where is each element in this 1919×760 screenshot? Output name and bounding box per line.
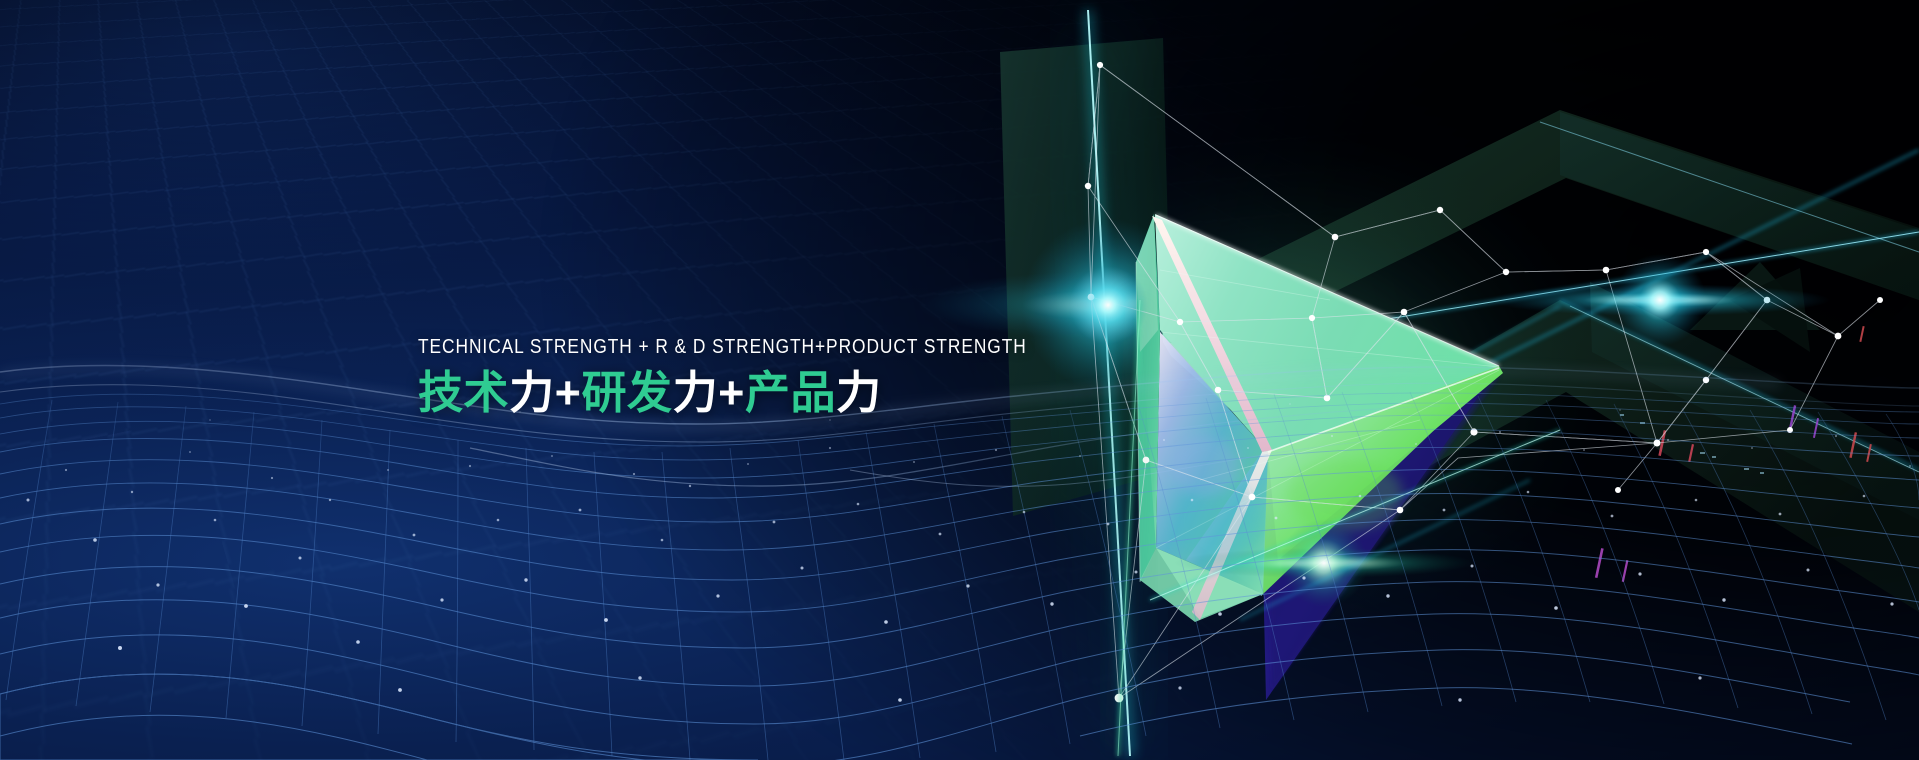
title-seg-2: + (555, 367, 582, 418)
title-seg-0: 技术 (418, 367, 509, 418)
title-seg-4: 力 (673, 367, 719, 418)
title-seg-5: + (718, 367, 745, 418)
title-seg-7: 力 (836, 367, 882, 418)
title-seg-1: 力 (509, 367, 555, 418)
green-descending-beam (1118, 300, 1140, 756)
headline-chinese: 技术力+研发力+产品力 (418, 366, 1058, 420)
title-seg-6: 产品 (745, 367, 836, 418)
network-nodes (1085, 62, 1883, 702)
dark-angular-slab-group (1000, 38, 1919, 612)
cyan-edge-streaks (1186, 122, 1919, 582)
arrow-aura (965, 130, 1605, 640)
headline-english: TECHNICAL STRENGTH + R & D STRENGTH+PROD… (418, 336, 959, 359)
3d-play-arrow (1136, 214, 1503, 700)
hero-banner: TECHNICAL STRENGTH + R & D STRENGTH+PROD… (0, 0, 1919, 760)
headline-block: TECHNICAL STRENGTH + R & D STRENGTH+PROD… (418, 336, 1058, 420)
particle-dots (27, 403, 1912, 702)
title-seg-3: 研发 (581, 367, 672, 418)
polygonal-node-network (1088, 65, 1880, 698)
lens-flares (1068, 254, 1830, 620)
